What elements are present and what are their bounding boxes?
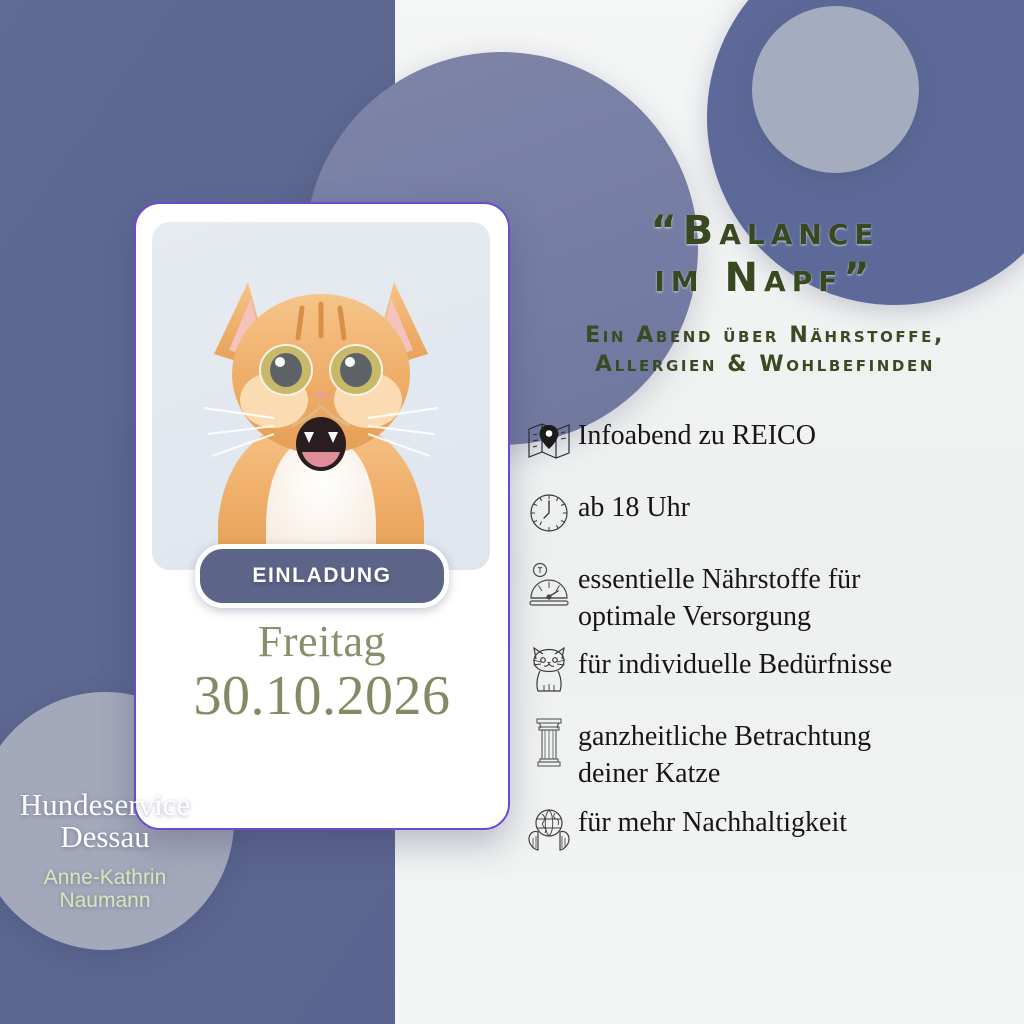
list-item-line1: für individuelle Bedürfnisse [578, 649, 892, 680]
brand-person-line1: Anne-Kathrin [44, 866, 167, 889]
list-item: für mehr Nachhaltigkeit [520, 801, 1010, 855]
poster-canvas: EINLADUNG Freitag 30.10.2026 Hundeservic… [0, 0, 1024, 1024]
decor-circle-light-top-right [752, 6, 919, 173]
content-column: “Balance im Napf” Ein Abend über Nährsto… [520, 208, 1010, 873]
page-title: “Balance im Napf” [520, 208, 1010, 302]
list-item: für individuelle Bedürfnisse [520, 643, 1010, 697]
list-item-line1: für mehr Nachhaltigkeit [578, 807, 847, 838]
brand-person: Anne-Kathrin Naumann [44, 866, 167, 913]
list-item-text: für mehr Nachhaltigkeit [578, 801, 847, 842]
list-item: Infoabend zu REICO [520, 414, 1010, 468]
list-item-text: Infoabend zu REICO [578, 414, 816, 455]
list-item-text: für individuelle Bedürfnisse [578, 643, 892, 684]
page-title-line2: im Napf” [520, 255, 1010, 302]
brand-name: Hundeservice Dessau [20, 789, 190, 853]
einladung-badge: EINLADUNG [195, 544, 449, 608]
list-item: essentielle Nährstoffe für optimale Vers… [520, 558, 1010, 636]
list-item-line1: Infoabend zu REICO [578, 420, 816, 451]
list-item-line1: ab 18 Uhr [578, 492, 690, 523]
column-icon [520, 715, 578, 769]
cat-photo [152, 222, 490, 570]
page-subtitle-line1: Ein Abend über Nährstoffe, [585, 323, 945, 348]
page-title-line1: “Balance [650, 208, 879, 254]
clock-icon [520, 486, 578, 540]
list-item-text: ab 18 Uhr [578, 486, 690, 527]
gauge-icon [520, 558, 578, 612]
brand-name-line2: Dessau [60, 819, 150, 854]
list-item-line1: ganzheitliche Betrachtung [578, 721, 871, 752]
list-item-line1: essentielle Nährstoffe für [578, 564, 861, 595]
brand-badge: Hundeservice Dessau Anne-Kathrin Naumann [0, 692, 234, 950]
list-item: ab 18 Uhr [520, 486, 1010, 540]
page-subtitle: Ein Abend über Nährstoffe, Allergien & W… [520, 322, 1010, 379]
cat-icon [520, 643, 578, 697]
list-item-line2: optimale Versorgung [578, 599, 861, 636]
map-pin-icon [520, 414, 578, 468]
event-day: Freitag [136, 616, 508, 667]
list-item-line2: deiner Katze [578, 756, 871, 793]
einladung-badge-label: EINLADUNG [252, 564, 391, 588]
list-item-text: ganzheitliche Betrachtung deiner Katze [578, 715, 871, 793]
feature-list: Infoabend zu REICO [520, 414, 1010, 856]
page-subtitle-line2: Allergien & Wohlbefinden [520, 351, 1010, 380]
brand-person-line2: Naumann [59, 889, 150, 912]
brand-name-line1: Hundeservice [20, 787, 190, 822]
globe-hands-icon [520, 801, 578, 855]
list-item-text: essentielle Nährstoffe für optimale Vers… [578, 558, 861, 636]
list-item: ganzheitliche Betrachtung deiner Katze [520, 715, 1010, 793]
